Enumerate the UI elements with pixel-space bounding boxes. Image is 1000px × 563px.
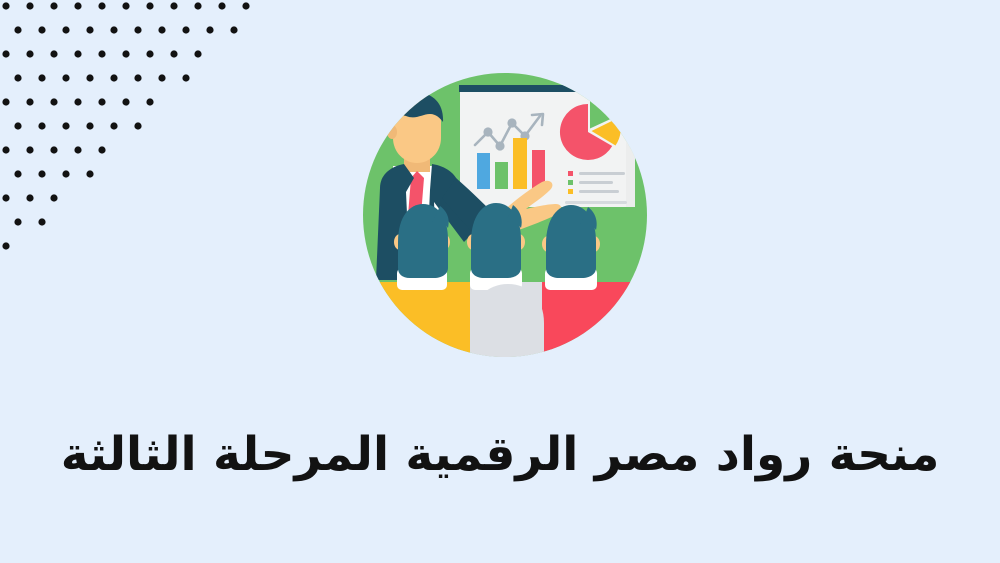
presenter-ear — [387, 125, 397, 139]
dot-pattern-icon — [0, 0, 270, 260]
band-red — [542, 282, 650, 360]
foreground-person-back — [472, 284, 544, 360]
dot-pattern-decoration — [0, 0, 270, 260]
band-yellow — [360, 282, 470, 360]
bar-3 — [513, 138, 527, 189]
business-presentation-illustration — [360, 70, 650, 360]
legend-bar — [579, 172, 625, 175]
legend-bar — [579, 190, 619, 193]
legend-footer-line — [565, 201, 627, 204]
bar-1 — [477, 153, 490, 189]
trend-marker — [483, 127, 492, 136]
trend-marker — [495, 141, 504, 150]
trend-marker — [507, 118, 516, 127]
legend-swatch-yellow — [568, 189, 573, 194]
poster-canvas: منحة رواد مصر الرقمية المرحلة الثالثة — [0, 0, 1000, 563]
page-title: منحة رواد مصر الرقمية المرحلة الثالثة — [61, 426, 940, 485]
legend-bar — [579, 181, 613, 184]
bar-2 — [495, 162, 508, 189]
title-area: منحة رواد مصر الرقمية المرحلة الثالثة — [0, 395, 1000, 517]
illustration-svg — [360, 70, 650, 360]
legend-swatch-green — [568, 180, 573, 185]
legend-swatch-red — [568, 171, 573, 176]
